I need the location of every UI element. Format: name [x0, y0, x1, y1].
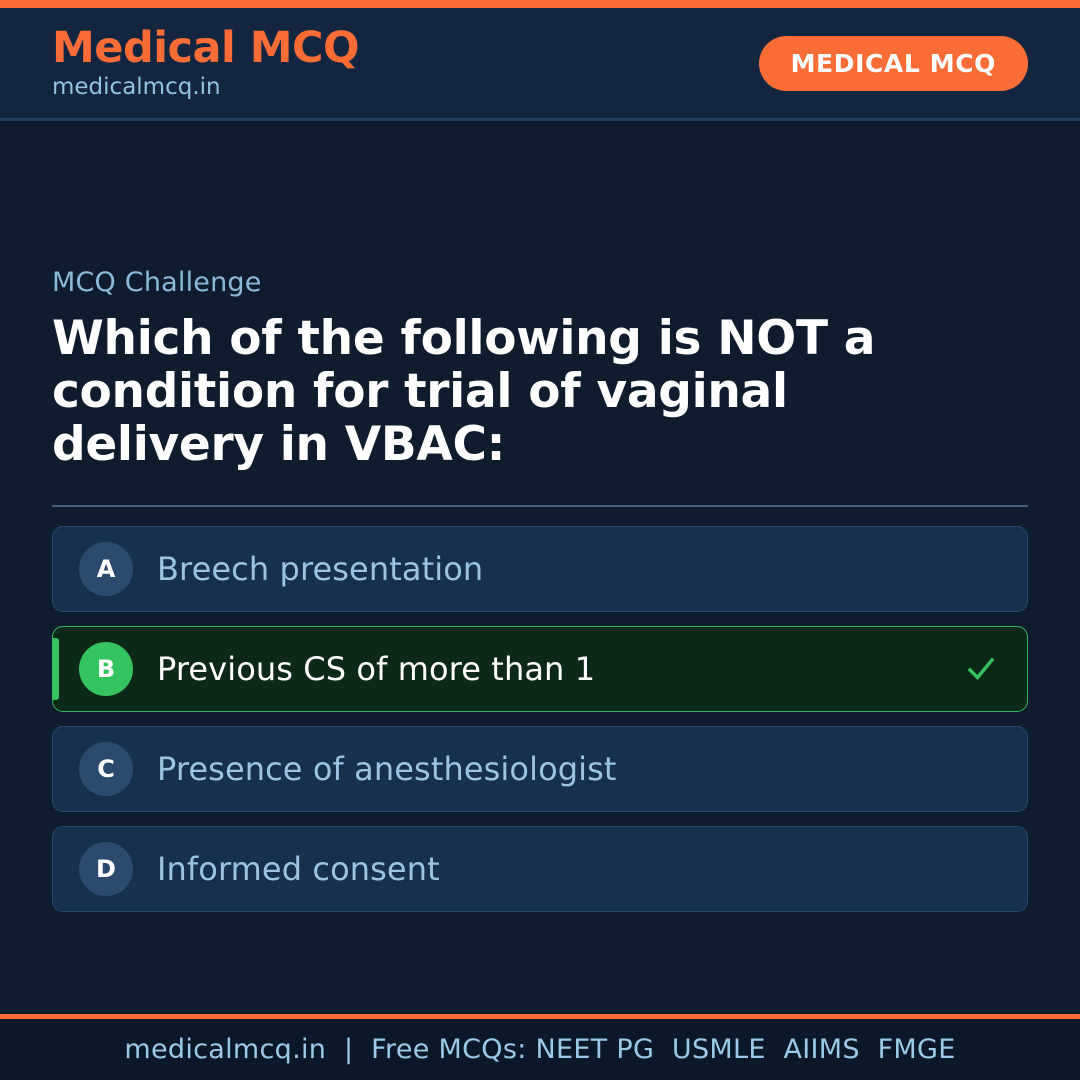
option-c[interactable]: C Presence of anesthesiologist: [52, 726, 1028, 812]
option-label: Breech presentation: [157, 550, 483, 588]
option-letter-badge: D: [79, 842, 133, 896]
option-letter-badge: C: [79, 742, 133, 796]
option-d[interactable]: D Informed consent: [52, 826, 1028, 912]
top-accent-bar: [0, 0, 1080, 8]
option-letter-badge: B: [79, 642, 133, 696]
option-label: Informed consent: [157, 850, 440, 888]
question-eyebrow: MCQ Challenge: [52, 267, 1028, 298]
brand-title: Medical MCQ: [52, 27, 359, 70]
footer: medicalmcq.in | Free MCQs: NEET PG USMLE…: [0, 1014, 1080, 1080]
option-b[interactable]: B Previous CS of more than 1: [52, 626, 1028, 712]
options-list: A Breech presentation B Previous CS of m…: [52, 526, 1028, 912]
option-a[interactable]: A Breech presentation: [52, 526, 1028, 612]
brand-pill-badge: MEDICAL MCQ: [759, 36, 1028, 91]
correct-accent-bar: [53, 638, 59, 700]
option-label: Previous CS of more than 1: [157, 650, 595, 688]
header: Medical MCQ medicalmcq.in MEDICAL MCQ: [0, 8, 1080, 121]
option-letter-badge: A: [79, 542, 133, 596]
mcq-card: Medical MCQ medicalmcq.in MEDICAL MCQ MC…: [0, 0, 1080, 1080]
brand: Medical MCQ medicalmcq.in: [52, 27, 359, 99]
option-label: Presence of anesthesiologist: [157, 750, 617, 788]
footer-text: medicalmcq.in | Free MCQs: NEET PG USMLE…: [124, 1034, 955, 1065]
brand-website: medicalmcq.in: [52, 76, 359, 99]
check-icon: [961, 649, 1001, 689]
question-block: MCQ Challenge Which of the following is …: [52, 267, 1028, 507]
main-content: MCQ Challenge Which of the following is …: [0, 121, 1080, 1014]
question-divider: [52, 505, 1028, 507]
question-text: Which of the following is NOT a conditio…: [52, 312, 982, 471]
